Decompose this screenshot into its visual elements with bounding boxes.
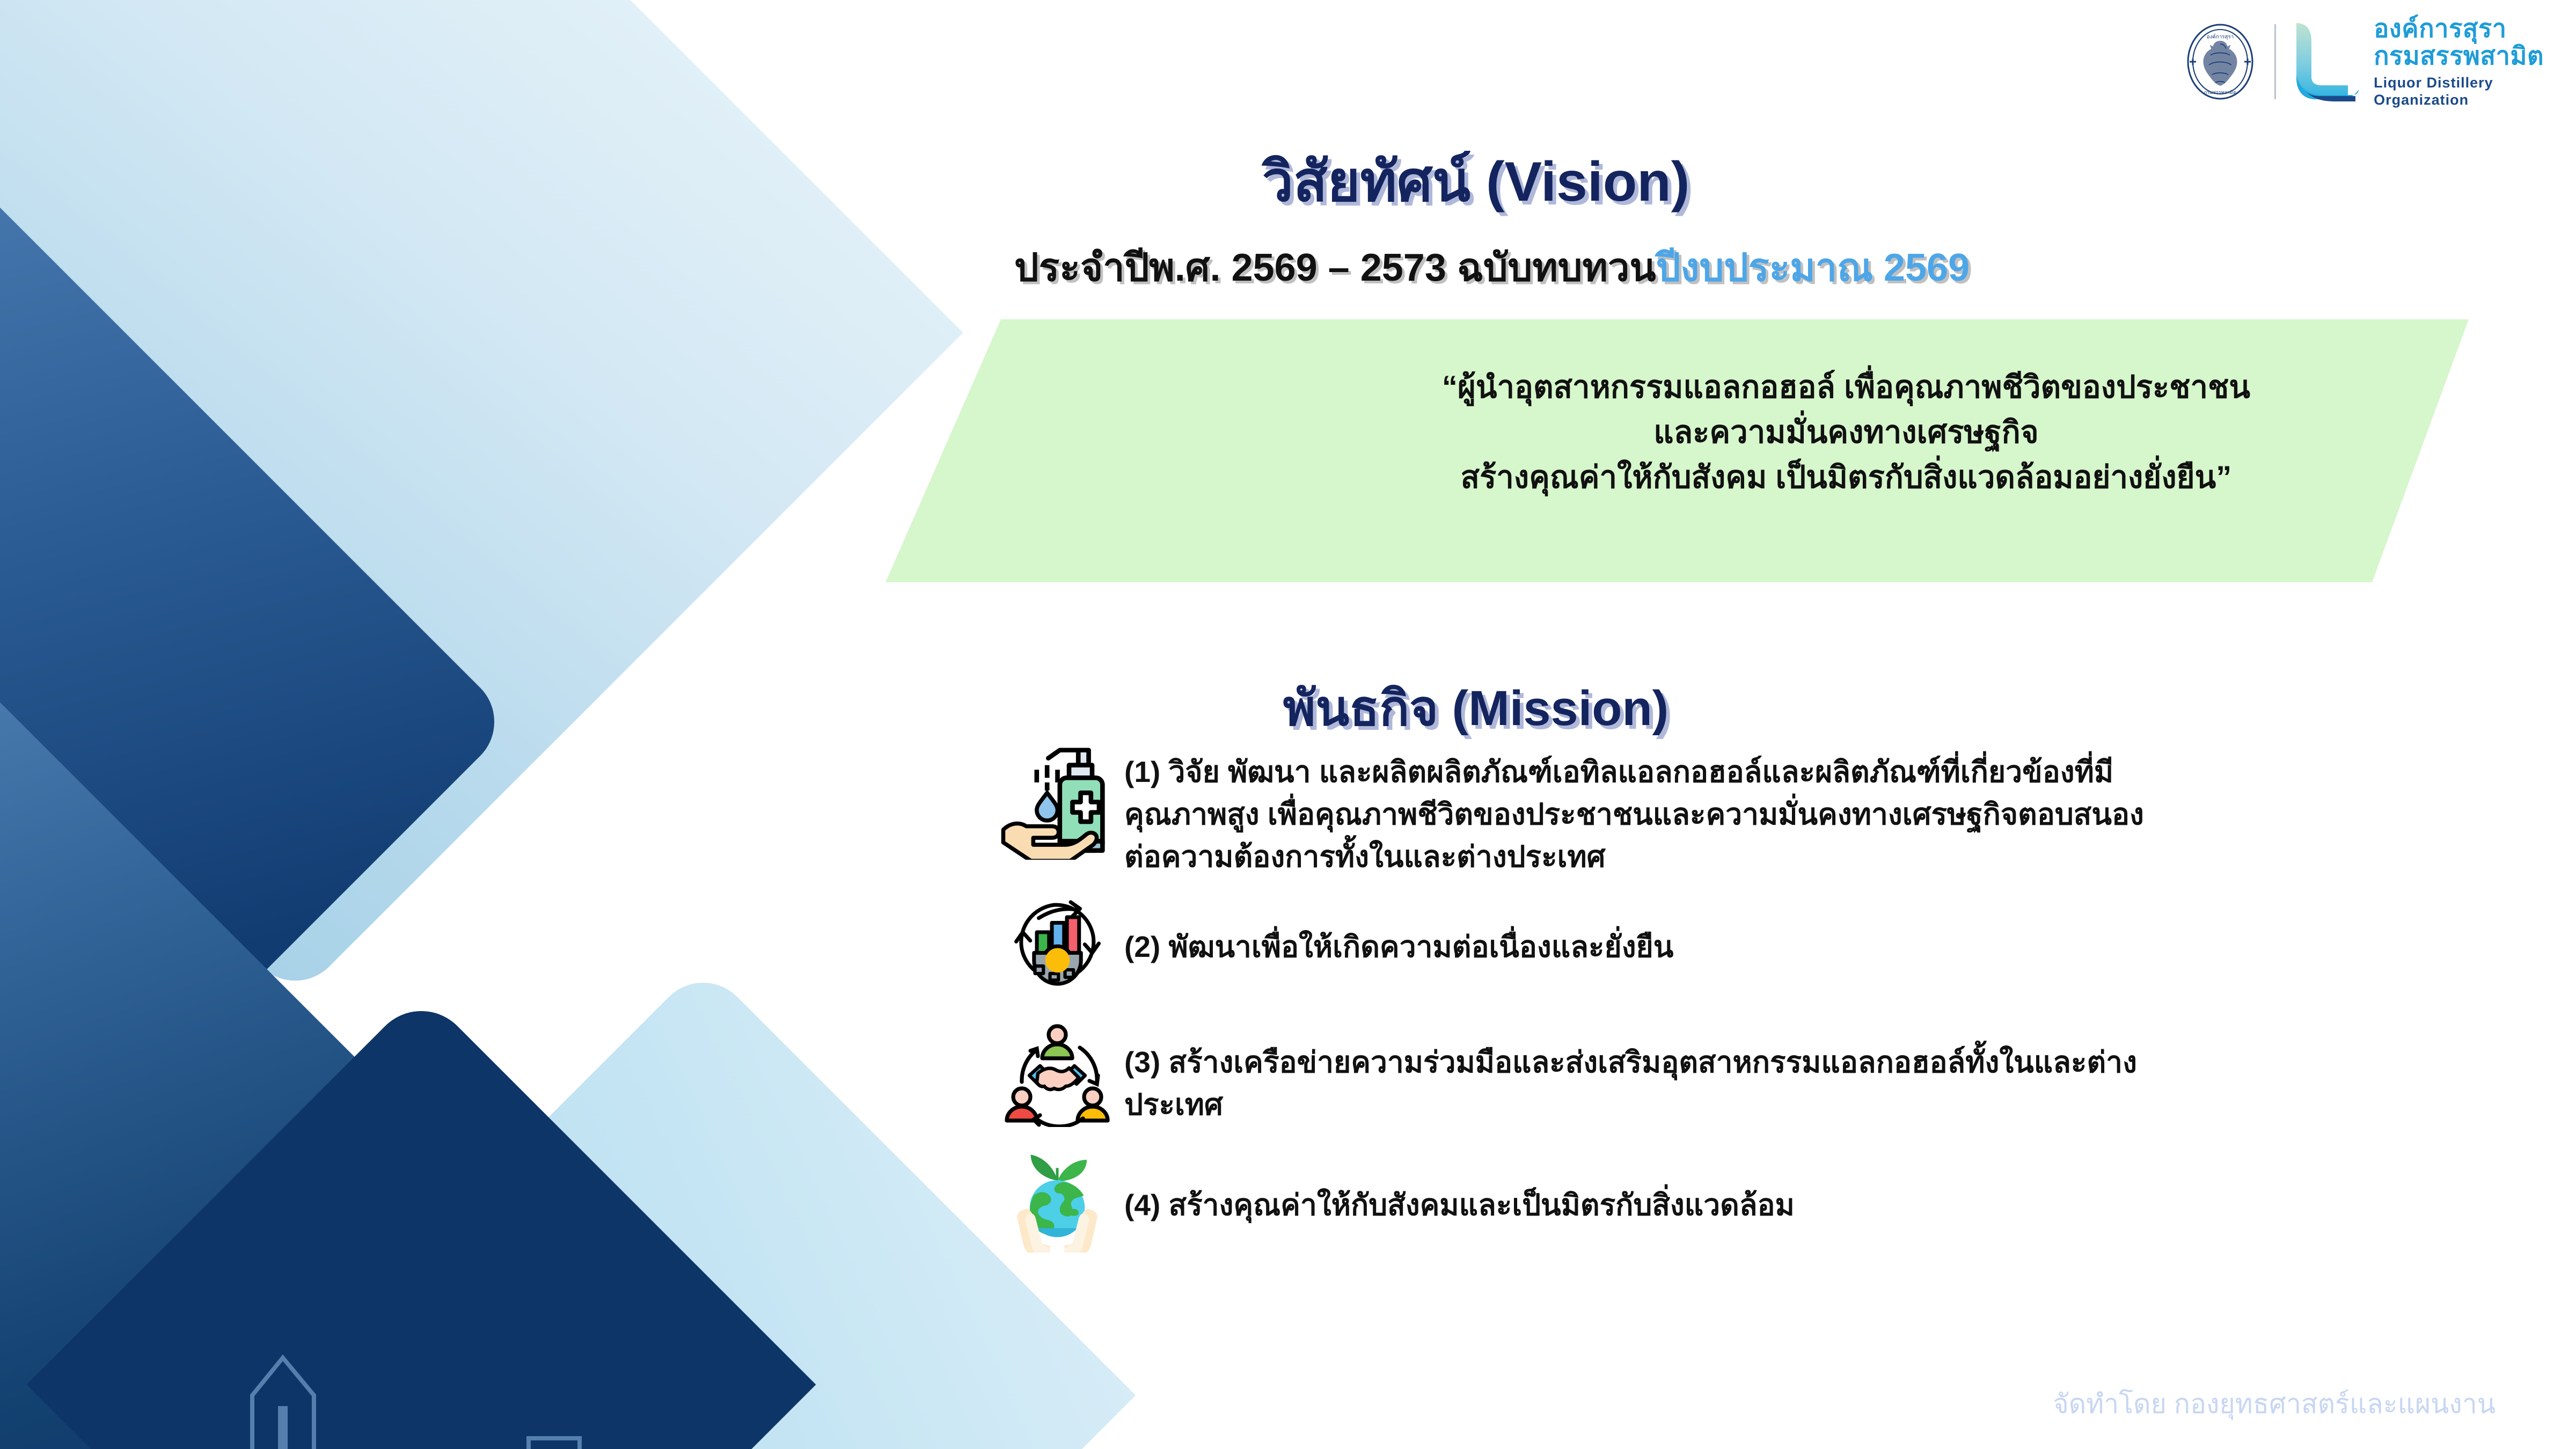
slide-root: องค์การสุรา กรมสรรพสามิต องค์การสุรา กรม… xyxy=(0,0,2576,1449)
svg-text:กรมสรรพสามิต: กรมสรรพสามิต xyxy=(2204,90,2236,95)
hand-sanitizer-icon xyxy=(1000,744,1115,860)
footer-credit: จัดทำโดย กองยุทธศาสตร์และแผนงาน xyxy=(2053,1383,2495,1425)
mission-icon-2 xyxy=(990,895,1124,989)
vision-statement-line-2: และความมั่นคงทางเศรษฐกิจ xyxy=(1283,410,2410,455)
mission-list: (1) วิจัย พัฒนา และผลิตผลิตภัณฑ์เอทิลแอล… xyxy=(990,743,2171,1267)
logo-thai-line-1: องค์การสุรา xyxy=(2374,15,2544,41)
light-blue-triangle-top xyxy=(0,0,963,1001)
garuda-seal-icon: องค์การสุรา กรมสรรพสามิต xyxy=(2180,21,2260,102)
mission-text-1: (1) วิจัย พัฒนา และผลิตผลิตภัณฑ์เอทิลแอล… xyxy=(1124,743,2171,879)
vision-statement-line-3: สร้างคุณค่าให้กับสังคม เป็นมิตรกับสิ่งแว… xyxy=(1283,455,2410,500)
vision-subtitle: ประจำปีพ.ศ. 2569 – 2573 ฉบับทบทวนปีงบประ… xyxy=(955,236,2029,298)
vision-statement-box: “ผู้นำอุตสาหกรรมแอลกอฮอล์ เพื่อคุณภาพชีว… xyxy=(885,319,2469,582)
mission-item-4: (4) สร้างคุณค่าให้กับสังคมและเป็นมิตรกับ… xyxy=(990,1151,2171,1253)
navy-triangle-skyline xyxy=(27,990,816,1449)
navy-chevron-upper xyxy=(0,65,514,1379)
vision-statement-line-1: “ผู้นำอุตสาหกรรมแอลกอฮอล์ เพื่อคุณภาพชีว… xyxy=(1283,365,2410,410)
logo-divider xyxy=(2274,24,2276,99)
logo-text-block: องค์การสุรา กรมสรรพสามิต Liquor Distille… xyxy=(2374,15,2544,108)
mission-text-2: (2) พัฒนาเพื่อให้เกิดความต่อเนื่องและยั่… xyxy=(1124,895,2171,968)
mission-icon-4 xyxy=(990,1151,1124,1253)
logo-english-line-1: Liquor Distillery xyxy=(2374,75,2544,91)
mission-icon-1 xyxy=(990,743,1124,860)
ldo-l-mark-icon xyxy=(2290,21,2360,103)
logo-english-line-2: Organization xyxy=(2374,92,2544,108)
growth-gear-icon xyxy=(1011,895,1104,989)
navy-chevron-lower xyxy=(0,536,441,1449)
vision-statement-text: “ผู้นำอุตสาหกรรมแอลกอฮอล์ เพื่อคุณภาพชีว… xyxy=(1283,365,2410,500)
svg-text:องค์การสุรา: องค์การสุรา xyxy=(2207,33,2234,40)
mission-item-3: (3) สร้างเครือข่ายความร่วมมือและส่งเสริม… xyxy=(990,1020,2171,1127)
partnership-network-icon xyxy=(1004,1020,1111,1127)
vision-subtitle-highlight: ปีงบประมาณ 2569 xyxy=(1656,246,1970,289)
city-skyline-icon xyxy=(27,990,816,1449)
mission-title: พันธกิจ (Mission) xyxy=(1020,668,1932,747)
vision-title: วิสัยทัศน์ (Vision) xyxy=(1020,137,1932,225)
logo-thai-line-2: กรมสรรพสามิต xyxy=(2374,42,2544,69)
vision-subtitle-black: ประจำปีพ.ศ. 2569 – 2573 ฉบับทบทวน xyxy=(1014,246,1656,289)
mission-item-2: (2) พัฒนาเพื่อให้เกิดความต่อเนื่องและยั่… xyxy=(990,895,2171,989)
mission-item-1: (1) วิจัย พัฒนา และผลิตผลิตภัณฑ์เอทิลแอล… xyxy=(990,743,2171,879)
organization-logo: องค์การสุรา กรมสรรพสามิต องค์การสุรา กรม… xyxy=(2180,15,2544,108)
mission-text-4: (4) สร้างคุณค่าให้กับสังคมและเป็นมิตรกับ… xyxy=(1124,1151,2171,1226)
mission-text-3: (3) สร้างเครือข่ายความร่วมมือและส่งเสริม… xyxy=(1124,1020,2171,1126)
mission-icon-3 xyxy=(990,1020,1124,1127)
hands-earth-icon xyxy=(1006,1151,1108,1253)
